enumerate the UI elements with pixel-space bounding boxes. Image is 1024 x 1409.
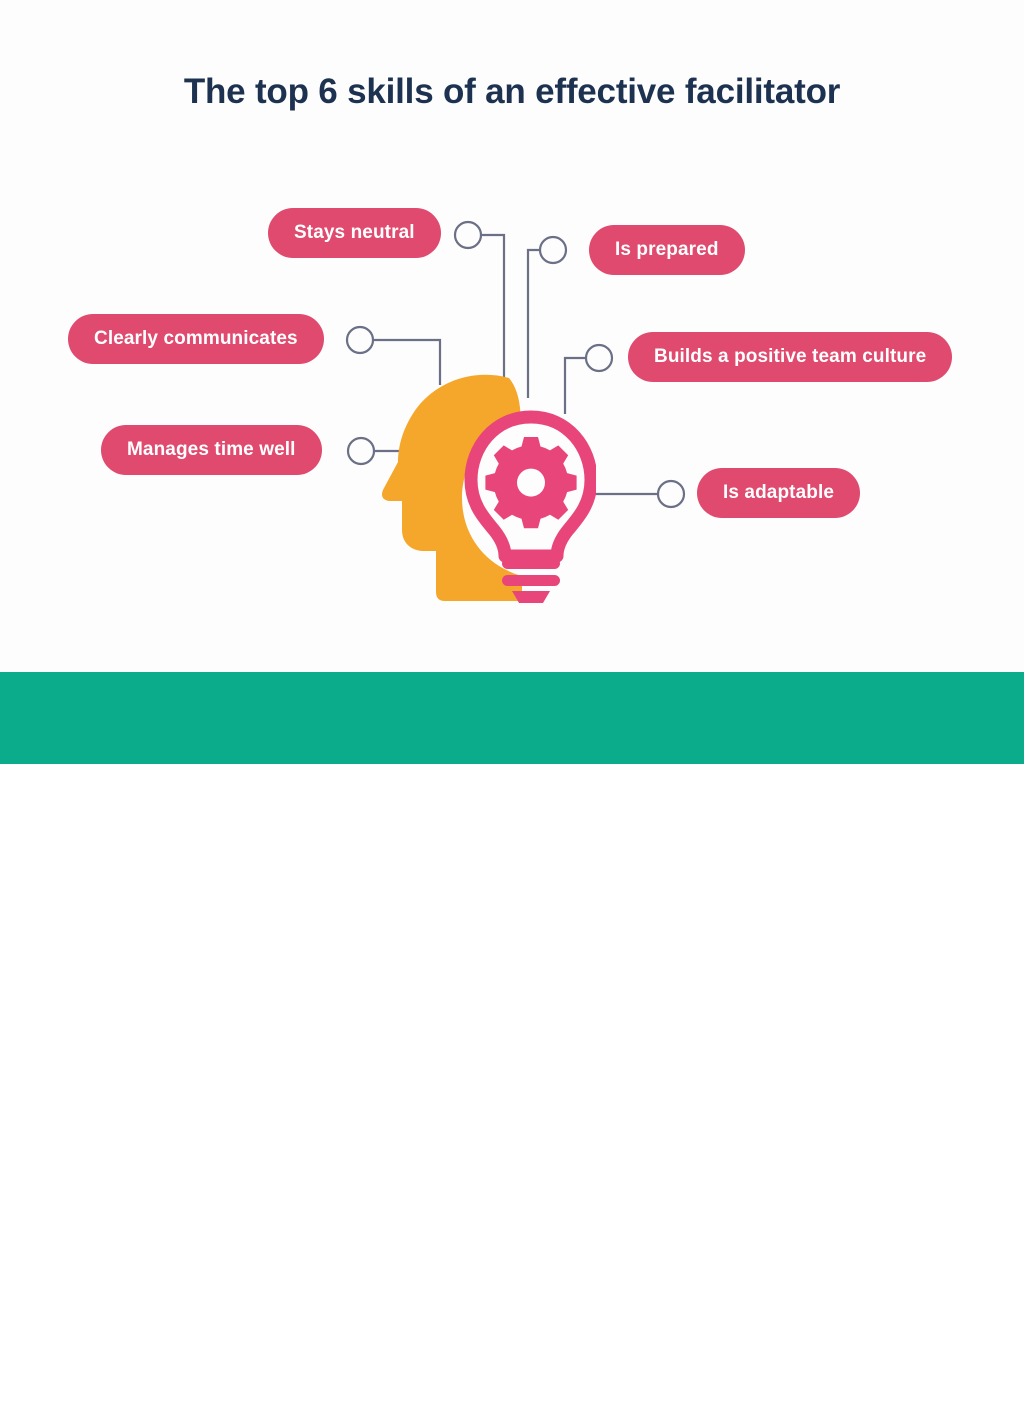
footer-band: acorn — [0, 672, 1024, 764]
lightbulb-base-band-2 — [502, 575, 560, 586]
connector-path-stays-neutral — [481, 235, 504, 390]
skill-label: Clearly communicates — [94, 329, 298, 348]
page-title: The top 6 skills of an effective facilit… — [0, 72, 1024, 112]
brand-name: acorn — [94, 1376, 173, 1407]
connector-node-clearly-communicates — [347, 327, 373, 353]
lightbulb-base-band-1 — [502, 558, 560, 569]
skill-pill-is-prepared[interactable]: Is prepared — [589, 225, 745, 275]
connector-node-is-prepared — [540, 237, 566, 263]
skill-pill-builds-positive-team-culture[interactable]: Builds a positive team culture — [628, 332, 952, 382]
skill-pill-is-adaptable[interactable]: Is adaptable — [697, 468, 860, 518]
infographic-canvas: The top 6 skills of an effective facilit… — [0, 0, 1024, 764]
connector-node-stays-neutral — [455, 222, 481, 248]
skill-pill-stays-neutral[interactable]: Stays neutral — [268, 208, 441, 258]
skill-label: Manages time well — [127, 440, 296, 459]
skill-label: Builds a positive team culture — [654, 347, 926, 366]
connector-node-manages-time-well — [348, 438, 374, 464]
head-with-lightbulb-gear-icon — [376, 370, 596, 605]
gear-shape — [485, 437, 576, 528]
connector-node-builds-positive-team-culture — [586, 345, 612, 371]
skill-label: Is adaptable — [723, 483, 834, 502]
brand-logo[interactable]: acorn — [56, 1374, 173, 1406]
gear-center-hole — [517, 469, 545, 497]
skill-pill-clearly-communicates[interactable]: Clearly communicates — [68, 314, 324, 364]
skill-label: Is prepared — [615, 240, 719, 259]
skill-label: Stays neutral — [294, 223, 415, 242]
connector-node-is-adaptable — [658, 481, 684, 507]
acorn-icon — [56, 1374, 81, 1406]
skill-pill-manages-time-well[interactable]: Manages time well — [101, 425, 322, 475]
